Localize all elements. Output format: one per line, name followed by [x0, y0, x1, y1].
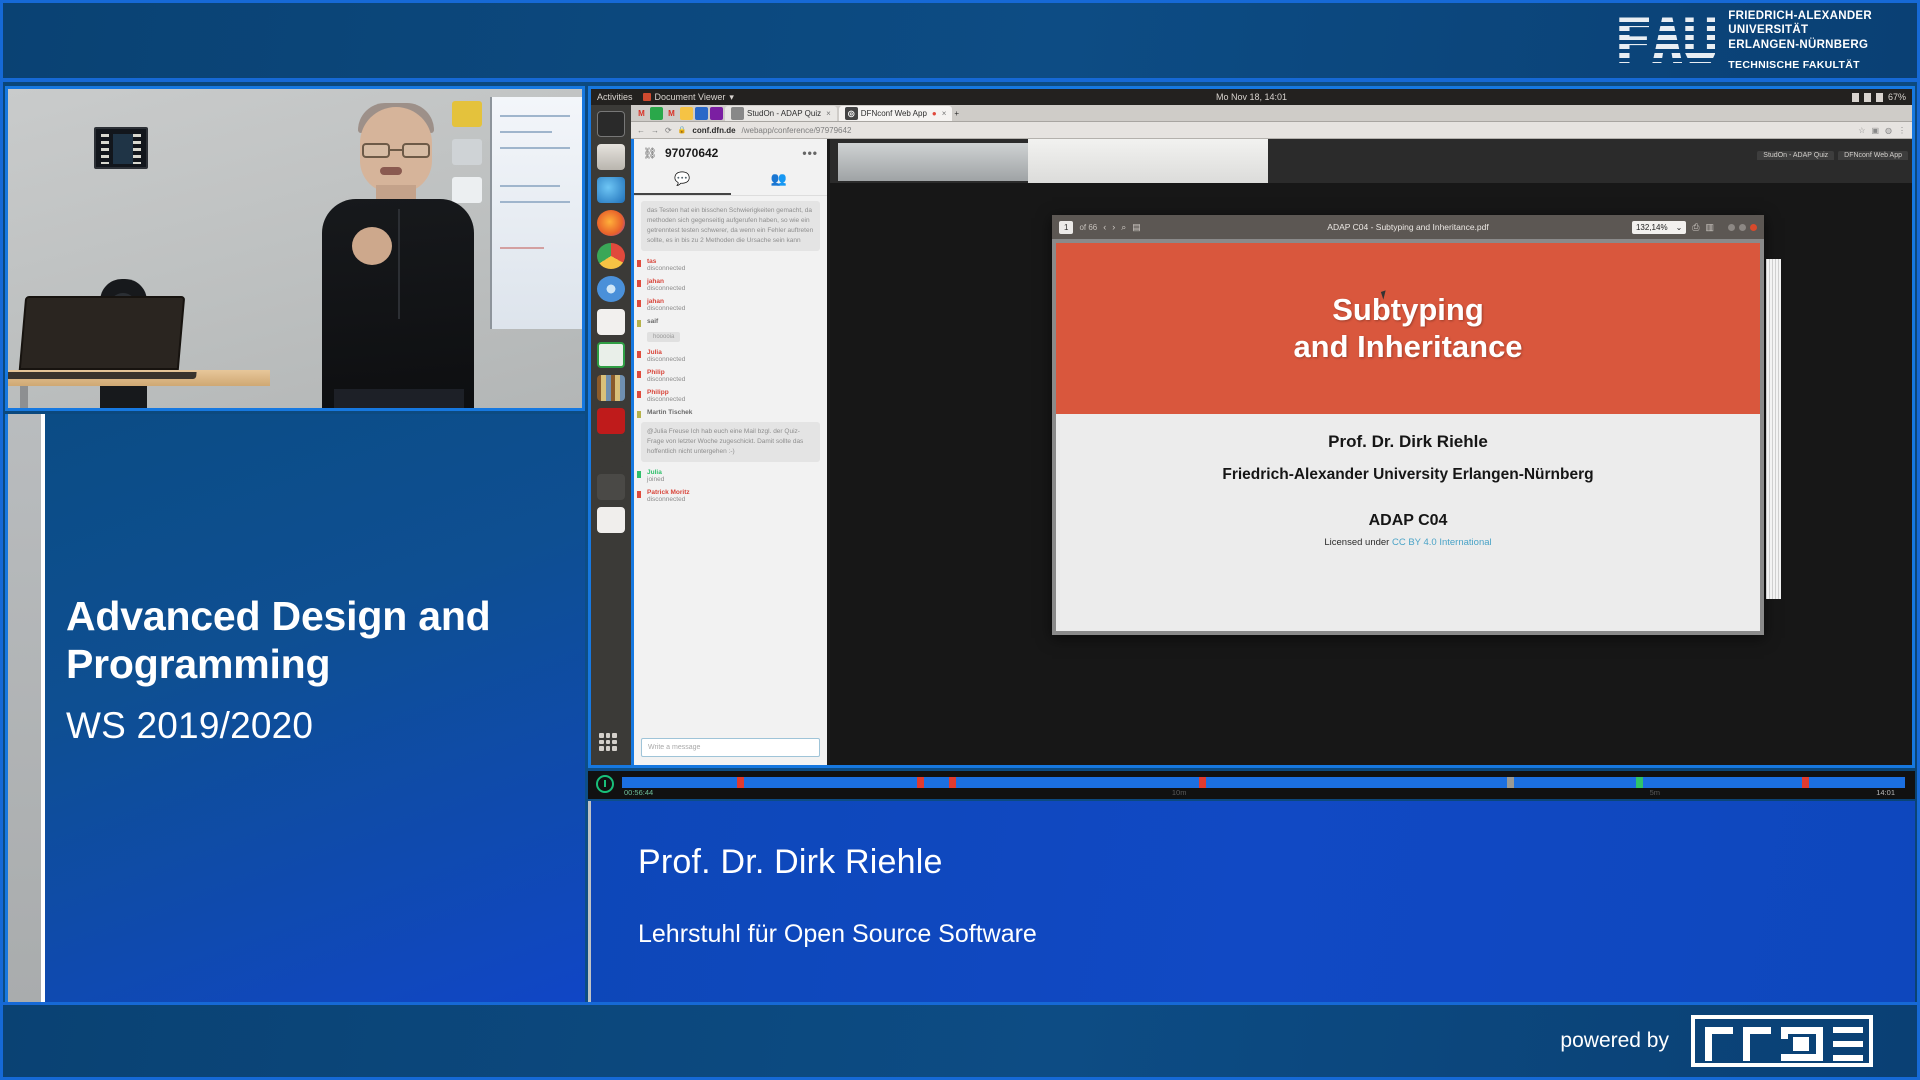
- title-card-spine: [8, 414, 41, 1002]
- chat-header: ⛓ 97070642 •••: [634, 139, 827, 167]
- chat-event: Patrick Moritz disconnected: [641, 489, 820, 503]
- room-number: 97070642: [665, 146, 718, 160]
- chrome-icon[interactable]: [597, 243, 625, 269]
- lecturer-video[interactable]: [5, 86, 585, 411]
- slide-title: Subtyping and Inheritance: [1293, 291, 1522, 367]
- event-status: joined: [647, 476, 820, 483]
- event-status: hooooia: [647, 332, 680, 342]
- magnet-icon[interactable]: [597, 441, 625, 467]
- event-user: saif: [647, 318, 820, 325]
- license-prefix: Licensed under: [1324, 537, 1392, 548]
- laptop: [19, 296, 185, 370]
- pdf-page-area[interactable]: Subtyping and Inheritance Prof. Dr. Dirk…: [1052, 239, 1764, 635]
- app-dock[interactable]: [591, 105, 631, 765]
- close-icon[interactable]: ×: [942, 109, 947, 118]
- annotate-icon[interactable]: ▥: [1705, 222, 1714, 233]
- reload-icon[interactable]: ⟳: [665, 126, 672, 135]
- chat-event: Julia joined: [641, 469, 820, 483]
- browser-url-bar[interactable]: ← → ⟳ 🔒 conf.dfn.de/webapp/conference/97…: [631, 122, 1912, 139]
- close-icon[interactable]: ×: [826, 109, 831, 118]
- conference-chat-panel[interactable]: ⛓ 97070642 ••• 💬 👥 das Testen hat ein bi…: [631, 139, 827, 765]
- participants-tab[interactable]: 👥: [731, 167, 828, 195]
- thunderbird-icon[interactable]: [597, 177, 625, 203]
- fau-letter-a: [1652, 17, 1682, 63]
- slide-title-band: Subtyping and Inheritance: [1056, 243, 1760, 414]
- drive-icon[interactable]: [650, 107, 663, 120]
- torso: [322, 199, 474, 411]
- event-status: disconnected: [647, 356, 820, 363]
- fau-logo: FRIEDRICH-ALEXANDER UNIVERSITÄT ERLANGEN…: [1619, 9, 1872, 72]
- slide-author: Prof. Dr. Dirk Riehle: [1328, 432, 1488, 452]
- filezilla-icon[interactable]: [597, 408, 625, 434]
- event-user: Julia: [647, 469, 820, 476]
- tab-studon-adap-quiz[interactable]: StudOn - ADAP Quiz ×: [725, 106, 837, 121]
- gnome-top-bar: Activities Document Viewer ▾ Mo Nov 18, …: [591, 89, 1912, 105]
- mouth: [380, 167, 402, 175]
- files-icon[interactable]: [597, 144, 625, 170]
- event-user: jahan: [647, 278, 820, 285]
- profile-icon[interactable]: ◍: [1885, 126, 1892, 135]
- xfig-icon[interactable]: [597, 342, 625, 368]
- sidebar-icon[interactable]: ▤: [1132, 222, 1141, 233]
- screen-share-panel[interactable]: Activities Document Viewer ▾ Mo Nov 18, …: [588, 86, 1915, 768]
- chat-event: saif hooooia: [641, 318, 820, 343]
- fau-line-3: ERLANGEN-NÜRNBERG: [1728, 38, 1872, 52]
- minimize-button[interactable]: [1728, 224, 1735, 231]
- slide-course-code: ADAP C04: [1369, 512, 1448, 530]
- chat-input-placeholder: Write a message: [648, 744, 700, 751]
- next-page-icon[interactable]: ›: [1112, 222, 1115, 232]
- terminal-icon[interactable]: [597, 111, 625, 137]
- app-menu[interactable]: Document Viewer ▾: [643, 92, 734, 103]
- forward-icon[interactable]: →: [651, 126, 659, 135]
- chat-event: Julia disconnected: [641, 349, 820, 363]
- browser-window[interactable]: M M StudOn - ADAP Quiz × ◎ DFNconf Web A…: [631, 105, 1912, 765]
- menu-icon[interactable]: ⋮: [1898, 126, 1906, 135]
- shared-screen-stage: StudOn - ADAP Quiz DFNconf Web App 1 of …: [830, 139, 1912, 765]
- app-menu-label: Document Viewer: [655, 92, 726, 102]
- chat-message: das Testen hat ein bisschen Schwierigkei…: [641, 201, 820, 251]
- page-header: FRIEDRICH-ALEXANDER UNIVERSITÄT ERLANGEN…: [3, 3, 1917, 82]
- chat-event: Philipp disconnected: [641, 389, 820, 403]
- chat-event: jahan disconnected: [641, 298, 820, 312]
- drive-icon[interactable]: [680, 107, 693, 120]
- slide-title-page: Subtyping and Inheritance Prof. Dr. Dirk…: [1056, 243, 1760, 631]
- event-status: disconnected: [647, 265, 820, 272]
- page-content: ⛓ 97070642 ••• 💬 👥 das Testen hat ein bi…: [631, 139, 1912, 765]
- clock-icon: [596, 775, 614, 793]
- pdf-toolbar[interactable]: 1 of 66 ‹ › ⌕ ▤ ADAP C04 - Subtyping and…: [1052, 215, 1764, 239]
- license-link[interactable]: CC BY 4.0 International: [1392, 537, 1492, 548]
- event-user: Julia: [647, 349, 820, 356]
- tab-label: StudOn - ADAP Quiz: [747, 109, 821, 118]
- timeline-track[interactable]: [622, 777, 1905, 788]
- pdf-viewer-window[interactable]: 1 of 66 ‹ › ⌕ ▤ ADAP C04 - Subtyping and…: [1052, 215, 1764, 635]
- event-user: Patrick Moritz: [647, 489, 820, 496]
- fau-letter-f: [1619, 17, 1649, 63]
- timeline-marker[interactable]: [737, 777, 744, 788]
- gmail-icon[interactable]: M: [665, 107, 678, 120]
- url-path: /webapp/conference/97979642: [742, 126, 852, 135]
- event-user: jahan: [647, 298, 820, 305]
- chat-event: Philip disconnected: [641, 369, 820, 383]
- fau-line-1: FRIEDRICH-ALEXANDER: [1728, 9, 1872, 23]
- course-title-card: Advanced Design and Programming WS 2019/…: [5, 414, 585, 1002]
- slide-affiliation: Friedrich-Alexander University Erlangen-…: [1222, 466, 1593, 484]
- recording-dot-icon: ●: [932, 109, 937, 118]
- recursive-thumbnail: [838, 143, 1028, 181]
- event-status: disconnected: [647, 305, 820, 312]
- timeline-marker[interactable]: [1802, 777, 1809, 788]
- dfnconf-icon: ◎: [845, 107, 858, 120]
- books-icon[interactable]: [597, 375, 625, 401]
- wall-control-panel-icon: [94, 127, 148, 169]
- presenter-divider: [588, 801, 591, 1002]
- fau-line-4: TECHNISCHE FAKULTÄT: [1728, 59, 1872, 72]
- slide-title-line-2: and Inheritance: [1293, 329, 1522, 364]
- calendar-icon[interactable]: [695, 107, 708, 120]
- page-fit-icon[interactable]: ⎙: [1692, 222, 1699, 233]
- gnome-tray[interactable]: 67%: [1852, 92, 1906, 102]
- event-user: tas: [647, 258, 820, 265]
- projection-screen: [490, 97, 582, 329]
- battery-icon: [1876, 93, 1883, 102]
- timeline-marker[interactable]: [1636, 777, 1643, 788]
- lecture-player: FRIEDRICH-ALEXANDER UNIVERSITÄT ERLANGEN…: [0, 0, 1920, 1080]
- event-user: Philipp: [647, 389, 820, 396]
- chat-event: Martin Tischek: [641, 409, 820, 416]
- chat-event: jahan disconnected: [641, 278, 820, 292]
- timeline-start-time: 00:56:44: [624, 788, 653, 797]
- recursive-screen-capture: StudOn - ADAP Quiz DFNconf Web App: [830, 139, 1912, 183]
- presenter-name: Prof. Dr. Dirk Riehle: [638, 843, 1915, 882]
- recursive-tab-bar: StudOn - ADAP Quiz DFNconf Web App: [1757, 151, 1908, 160]
- prev-page-icon[interactable]: ‹: [1103, 222, 1106, 232]
- page-footer: powered by: [3, 1002, 1917, 1077]
- glasses-icon: [362, 143, 430, 158]
- document-title: ADAP C04 - Subtyping and Inheritance.pdf: [1327, 222, 1488, 232]
- event-status: disconnected: [647, 285, 820, 292]
- timeline-mid-label: 5m: [1650, 788, 1660, 797]
- zoom-select[interactable]: 132,14% ⌄: [1632, 221, 1686, 234]
- link-icon[interactable]: ⛓: [643, 147, 657, 160]
- event-user: Martin Tischek: [647, 409, 820, 416]
- course-term: WS 2019/2020: [66, 705, 555, 747]
- fau-letter-u: [1685, 17, 1715, 63]
- red-circle-app-icon[interactable]: [597, 507, 625, 533]
- timeline-end-time: 14:01: [1876, 788, 1895, 797]
- timeline-marker[interactable]: [1507, 777, 1514, 788]
- gmail-icon[interactable]: M: [635, 107, 648, 120]
- extension-icon[interactable]: ▣: [1871, 126, 1879, 135]
- chat-message-list[interactable]: das Testen hat ein bisschen Schwierigkei…: [634, 196, 827, 734]
- tab-label: DFNconf Web App: [1838, 151, 1908, 160]
- event-user: Philip: [647, 369, 820, 376]
- timeline-marker[interactable]: [917, 777, 924, 788]
- maximize-button[interactable]: [1739, 224, 1746, 231]
- timeline-marker[interactable]: [1199, 777, 1206, 788]
- volume-icon: [1864, 93, 1871, 102]
- recursive-slide-strip: [1028, 139, 1268, 183]
- back-icon[interactable]: ←: [637, 126, 645, 135]
- chat-tab[interactable]: 💬: [634, 167, 731, 195]
- fau-logo-mark: [1619, 17, 1715, 63]
- firefox-icon[interactable]: [597, 210, 625, 236]
- fau-wordmark: FRIEDRICH-ALEXANDER UNIVERSITÄT ERLANGEN…: [1728, 9, 1872, 72]
- pdf-page-stack: [1766, 259, 1782, 599]
- rrze-logo: [1691, 1015, 1873, 1067]
- activities-button[interactable]: Activities: [597, 92, 633, 102]
- page-number-input[interactable]: 1: [1059, 221, 1073, 234]
- chat-message: @Julia Freuse Ich hab euch eine Mail bzg…: [641, 422, 820, 462]
- document-viewer-icon: [643, 93, 651, 101]
- tab-label: DFNconf Web App: [861, 109, 927, 118]
- studon-icon: [731, 107, 744, 120]
- tab-dfnconf-web-app[interactable]: ◎ DFNconf Web App ● ×: [839, 106, 953, 121]
- lock-icon: 🔒: [678, 126, 687, 134]
- slide-body: Prof. Dr. Dirk Riehle Friedrich-Alexande…: [1056, 414, 1760, 631]
- chat-message-input[interactable]: Write a message: [641, 738, 820, 757]
- zoom-value: 132,14%: [1636, 223, 1668, 232]
- playback-timeline[interactable]: 00:56:44 10m 5m 14:01: [588, 771, 1915, 799]
- powered-by-label: powered by: [1560, 1029, 1669, 1053]
- chevron-down-icon: ⌄: [1676, 223, 1683, 232]
- event-status: disconnected: [647, 396, 820, 403]
- close-button[interactable]: [1750, 224, 1757, 231]
- chat-event: tas disconnected: [641, 258, 820, 272]
- chat-tab-bar[interactable]: 💬 👥: [634, 167, 827, 196]
- fau-line-2: UNIVERSITÄT: [1728, 23, 1872, 37]
- app-menu-caret-icon: ▾: [729, 92, 734, 103]
- slide-title-line-1: Subtyping: [1332, 292, 1484, 327]
- new-tab-button[interactable]: +: [954, 109, 959, 118]
- xx-app-icon[interactable]: [597, 474, 625, 500]
- window-buttons[interactable]: [1728, 224, 1757, 231]
- url-bar-actions[interactable]: ☆ ▣ ◍ ⋮: [1858, 126, 1906, 135]
- show-applications-icon[interactable]: [599, 733, 617, 751]
- chromium-icon[interactable]: [597, 276, 625, 302]
- app-icon[interactable]: [710, 107, 723, 120]
- page-total-label: of 66: [1079, 223, 1097, 232]
- accessibility-icon: [1852, 93, 1859, 102]
- lecturer-figure: [308, 99, 493, 411]
- url-host: conf.dfn.de: [692, 126, 735, 135]
- more-options-icon[interactable]: •••: [802, 146, 818, 160]
- title-card-spine-edge: [41, 414, 45, 1002]
- timeline-marker[interactable]: [949, 777, 956, 788]
- course-title: Advanced Design and Programming: [66, 592, 555, 689]
- text-editor-icon[interactable]: [597, 309, 625, 335]
- battery-percent: 67%: [1888, 92, 1906, 102]
- star-icon[interactable]: ☆: [1858, 126, 1865, 135]
- presenter-role: Lehrstuhl für Open Source Software: [638, 920, 1915, 949]
- slide-license: Licensed under CC BY 4.0 International: [1324, 537, 1491, 548]
- gnome-clock[interactable]: Mo Nov 18, 14:01: [1216, 92, 1287, 102]
- timeline-mid-label: 10m: [1172, 788, 1187, 797]
- hand: [352, 227, 392, 265]
- event-status: disconnected: [647, 496, 820, 503]
- legs: [334, 389, 464, 411]
- search-icon[interactable]: ⌕: [1121, 222, 1126, 233]
- event-status: disconnected: [647, 376, 820, 383]
- browser-tab-bar[interactable]: M M StudOn - ADAP Quiz × ◎ DFNconf Web A…: [631, 105, 1912, 122]
- tab-label: StudOn - ADAP Quiz: [1757, 151, 1834, 160]
- presenter-card: Prof. Dr. Dirk Riehle Lehrstuhl für Open…: [588, 801, 1915, 1002]
